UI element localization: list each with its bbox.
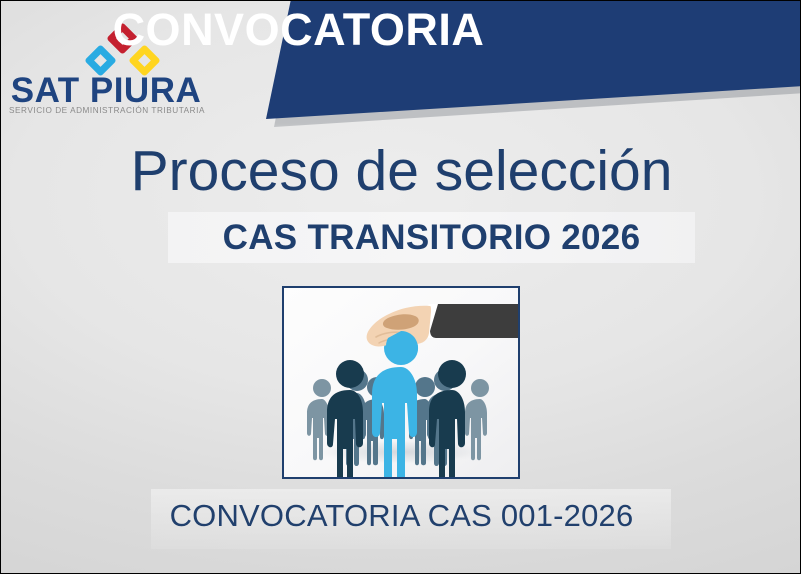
poster-caption: CONVOCATORIA CAS 001-2026 [1, 493, 801, 539]
logo-tagline: SERVICIO DE ADMINISTRACIÓN TRIBUTARIA [1, 106, 213, 115]
banner-title: CONVOCATORIA [51, 7, 546, 52]
page-subtitle: CAS TRANSITORIO 2026 [168, 212, 695, 263]
page-title: Proceso de selección [1, 139, 801, 205]
suit-sleeve [430, 304, 518, 338]
logo-wordmark: SAT PIURA [1, 73, 211, 108]
hand-selecting-person-icon [284, 288, 518, 477]
subtitle-band: CAS TRANSITORIO 2026 [168, 212, 695, 263]
illustration-frame [282, 286, 520, 479]
convocatoria-poster: SAT PIURA SERVICIO DE ADMINISTRACIÓN TRI… [0, 0, 801, 574]
